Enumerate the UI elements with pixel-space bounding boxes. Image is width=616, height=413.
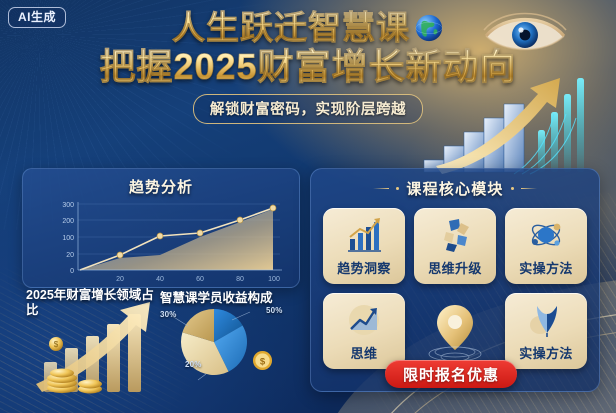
globe-icon (414, 13, 444, 43)
gold-coin-icon: $ (252, 350, 273, 371)
dot-right-icon (511, 187, 514, 190)
header: 人生跃迁智慧课 把握2025财富增长新动向 解锁财富密码，实现阶层跨越 (0, 8, 616, 124)
page-title-line1: 人生跃迁智慧课 (172, 8, 410, 48)
xtick-20: 20 (116, 276, 124, 283)
module-card-label: 实操方法 (519, 343, 573, 362)
puzzle-icon (435, 215, 475, 255)
core-modules-panel: 课程核心模块 趋势洞察 (310, 168, 600, 392)
pie-label-right: 50% (266, 306, 283, 315)
ai-generated-badge: AI生成 (8, 7, 66, 28)
trend-line-chart: 300 200 100 20 0 20 40 (34, 198, 288, 286)
module-card-label: 思维升级 (428, 258, 482, 277)
pie-label-left: 30% (160, 310, 177, 319)
ytick-100: 100 (62, 235, 74, 242)
modules-heading: 课程核心模块 (311, 169, 599, 199)
divider-left (373, 188, 389, 190)
svg-text:$: $ (260, 356, 266, 367)
dot-left-icon (396, 187, 399, 190)
ytick-20: 20 (66, 252, 74, 259)
atom-icon (526, 215, 566, 255)
module-card-practical-method-bottom[interactable]: 实操方法 (505, 293, 587, 369)
xtick-40: 40 (156, 276, 164, 283)
subtitle-pill: 解锁财富密码，实现阶层跨越 (193, 94, 423, 124)
leaf-flag-icon (526, 300, 566, 340)
location-pin-icon (426, 302, 484, 368)
limited-time-offer-button[interactable]: 限时报名优惠 (385, 360, 517, 388)
page-title-line2: 把握2025财富增长新动向 (0, 46, 616, 88)
growth-field-label: 2025年财富增长领域占比 (26, 288, 158, 318)
title-row: 人生跃迁智慧课 (0, 8, 616, 48)
poster-root: AI生成 (0, 0, 616, 413)
location-pin-cell (414, 293, 496, 369)
divider-right (521, 188, 537, 190)
modules-grid: 趋势洞察 思维升级 (311, 208, 599, 369)
xtick-100: 100 (268, 276, 280, 283)
trend-analysis-card: 趋势分析 (22, 168, 300, 288)
datapoint-20 (117, 252, 123, 258)
xtick-60: 60 (196, 276, 204, 283)
datapoint-80 (237, 217, 243, 223)
chart-title: 趋势分析 (23, 169, 299, 197)
datapoint-100 (270, 205, 276, 211)
svg-text:$: $ (54, 340, 59, 349)
datapoint-40 (157, 233, 163, 239)
ytick-200: 200 (62, 218, 74, 225)
module-card-trend-insight[interactable]: 趋势洞察 (323, 208, 405, 284)
xtick-80: 80 (236, 276, 244, 283)
pie-label-bottom: 20% (185, 360, 202, 369)
module-card-label: 实操方法 (519, 258, 573, 277)
module-card-label: 思维 (351, 343, 378, 362)
ytick-300: 300 (62, 202, 74, 209)
ytick-0: 0 (70, 268, 74, 275)
module-card-mindset[interactable]: 思维 (323, 293, 405, 369)
pie-chart-title: 智慧课学员收益构成 (160, 287, 310, 306)
module-card-practical-method-top[interactable]: 实操方法 (505, 208, 587, 284)
datapoint-60 (197, 230, 203, 236)
growth-arrow-icon (344, 300, 384, 340)
module-card-label: 趋势洞察 (337, 258, 391, 277)
modules-title: 课程核心模块 (406, 178, 503, 199)
bar-chart-icon (344, 215, 384, 255)
module-card-mindset-upgrade[interactable]: 思维升级 (414, 208, 496, 284)
